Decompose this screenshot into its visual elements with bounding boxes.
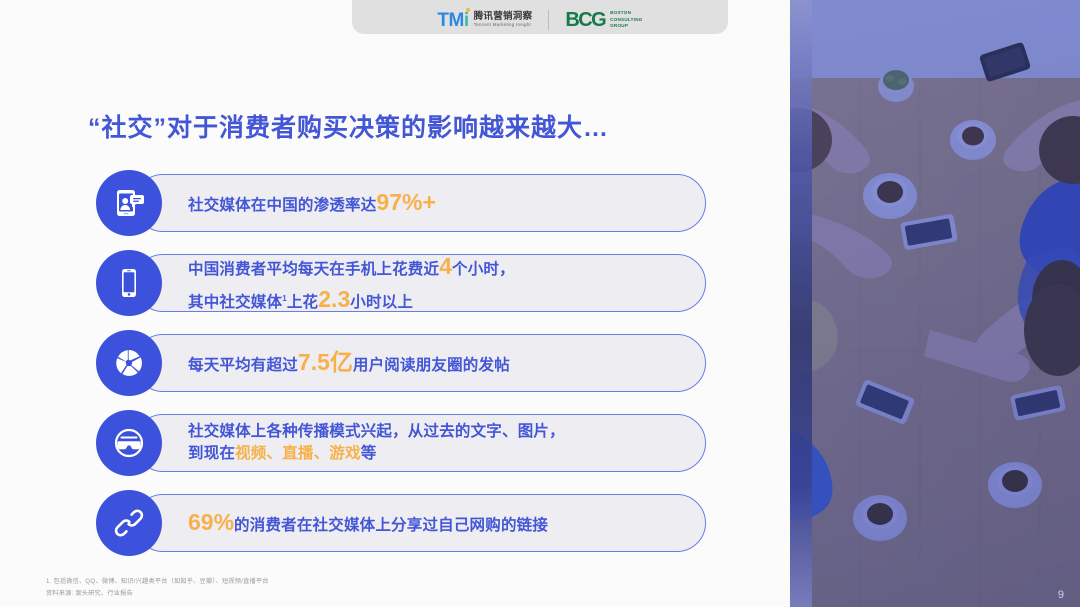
text-segment: 用户阅读朋友圈的发帖 bbox=[353, 357, 510, 374]
highlight-value: 4 bbox=[439, 253, 452, 279]
bullet-row: 69%的消费者在社交媒体上分享过自己网购的链接 bbox=[96, 490, 706, 556]
logo-band: TMi 腾讯营销洞察 Tencent Marketing Insight BCG… bbox=[352, 0, 728, 34]
bcg-fullname: BOSTON CONSULTING GROUP bbox=[610, 10, 643, 30]
footnote-line-1: 1. 包括微信、QQ、微博、知识/兴趣类平台（如知乎、豆瓣）、短视频/直播平台 bbox=[46, 576, 269, 587]
tmi-letter-m: M bbox=[449, 10, 464, 31]
footnote-line-2: 资料来源: 案头研究、行业报告 bbox=[46, 588, 269, 599]
bullet-rows: 社交媒体在中国的渗透率达97%+ 中国消费者平均每天在手机上花费近4个小时， 其… bbox=[96, 170, 706, 556]
text-segment: 社交媒体在中国的渗透率达 bbox=[188, 197, 376, 214]
bullet-line: 社交媒体在中国的渗透率达97%+ bbox=[188, 186, 436, 219]
bcg-line-3: GROUP bbox=[610, 23, 643, 30]
highlight-value: 7.5亿 bbox=[298, 349, 353, 375]
slide-root: TMi 腾讯营销洞察 Tencent Marketing Insight BCG… bbox=[0, 0, 1080, 607]
text-segment: 到现在 bbox=[188, 445, 235, 462]
text-segment: 其中社交媒体 bbox=[188, 294, 282, 311]
bullet-text: 每天平均有超过7.5亿用户阅读朋友圈的发帖 bbox=[188, 330, 510, 396]
bullet-line: 每天平均有超过7.5亿用户阅读朋友圈的发帖 bbox=[188, 346, 510, 379]
bullet-text: 社交媒体上各种传播模式兴起，从过去的文字、图片， 到现在视频、直播、游戏等 bbox=[188, 410, 565, 476]
vr-headset-icon bbox=[96, 410, 162, 476]
logo-divider bbox=[548, 10, 549, 30]
text-segment: 的消费者在社交媒体上分享过自己网购的链接 bbox=[234, 517, 548, 534]
tmi-dot-icon bbox=[466, 8, 470, 12]
highlight-value: 69% bbox=[188, 509, 234, 535]
bullet-line: 69%的消费者在社交媒体上分享过自己网购的链接 bbox=[188, 506, 548, 539]
bullet-text: 中国消费者平均每天在手机上花费近4个小时， 其中社交媒体1上花2.3小时以上 bbox=[188, 250, 515, 316]
tmi-letter-i: i bbox=[464, 10, 469, 31]
text-segment: 小时以上 bbox=[350, 294, 413, 311]
bcg-logo: BCG BOSTON CONSULTING GROUP bbox=[565, 10, 642, 30]
bullet-text: 69%的消费者在社交媒体上分享过自己网购的链接 bbox=[188, 490, 548, 556]
bullet-row: 中国消费者平均每天在手机上花费近4个小时， 其中社交媒体1上花2.3小时以上 bbox=[96, 250, 706, 316]
smartphone-icon bbox=[96, 250, 162, 316]
tmi-english-name: Tencent Marketing Insight bbox=[474, 23, 533, 28]
bullet-line: 中国消费者平均每天在手机上花费近4个小时， bbox=[188, 250, 515, 283]
link-chain-icon bbox=[96, 490, 162, 556]
text-segment: 上花 bbox=[287, 294, 318, 311]
bullet-line: 社交媒体上各种传播模式兴起，从过去的文字、图片， bbox=[188, 421, 565, 443]
logo-group: TMi 腾讯营销洞察 Tencent Marketing Insight BCG… bbox=[437, 10, 642, 30]
tmi-logo: TMi 腾讯营销洞察 Tencent Marketing Insight bbox=[437, 11, 532, 30]
bullet-text: 社交媒体在中国的渗透率达97%+ bbox=[188, 170, 436, 236]
mobile-social-icon bbox=[96, 170, 162, 236]
tmi-wordmark-icon: TMi bbox=[437, 11, 468, 30]
bullet-row: 社交媒体上各种传播模式兴起，从过去的文字、图片， 到现在视频、直播、游戏等 bbox=[96, 410, 706, 476]
bcg-line-2: CONSULTING bbox=[610, 17, 643, 24]
highlight-words: 视频、直播、游戏 bbox=[235, 445, 361, 462]
page-title: “社交”对于消费者购买决策的影响越来越大… bbox=[88, 108, 609, 144]
photo-left-edge-strip bbox=[790, 0, 812, 607]
footnote: 1. 包括微信、QQ、微博、知识/兴趣类平台（如知乎、豆瓣）、短视频/直播平台 … bbox=[46, 576, 269, 599]
moments-circle-icon bbox=[96, 330, 162, 396]
tmi-name-block: 腾讯营销洞察 Tencent Marketing Insight bbox=[474, 12, 533, 28]
text-segment: 等 bbox=[361, 445, 377, 462]
photo-panel: 9 bbox=[790, 0, 1080, 607]
tmi-chinese-name: 腾讯营销洞察 bbox=[474, 12, 533, 22]
bcg-wordmark-icon: BCG bbox=[565, 10, 605, 30]
bullet-line: 到现在视频、直播、游戏等 bbox=[188, 443, 565, 465]
tmi-letter-t: T bbox=[437, 10, 448, 31]
bullet-row: 每天平均有超过7.5亿用户阅读朋友圈的发帖 bbox=[96, 330, 706, 396]
text-segment: 社交媒体上各种传播模式兴起，从过去的文字、图片， bbox=[188, 423, 565, 440]
text-segment: 每天平均有超过 bbox=[188, 357, 298, 374]
bcg-line-1: BOSTON bbox=[610, 10, 643, 17]
highlight-value: 2.3 bbox=[318, 286, 350, 312]
photo-tint bbox=[790, 0, 1080, 607]
text-segment: 个小时， bbox=[452, 261, 515, 278]
page-number: 9 bbox=[1058, 589, 1064, 601]
text-segment: 中国消费者平均每天在手机上花费近 bbox=[188, 261, 439, 278]
bullet-row: 社交媒体在中国的渗透率达97%+ bbox=[96, 170, 706, 236]
highlight-value: 97%+ bbox=[376, 189, 435, 215]
bullet-line: 其中社交媒体1上花2.3小时以上 bbox=[188, 283, 515, 316]
